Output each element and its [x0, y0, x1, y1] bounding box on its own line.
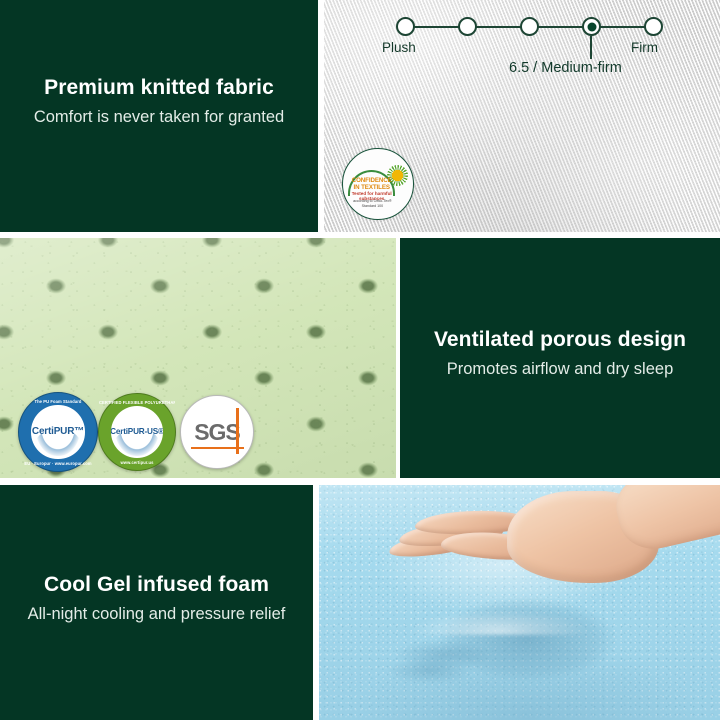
- ventilation-headline: Ventilated porous design: [400, 328, 720, 351]
- sgs-badge: SGS: [180, 395, 254, 469]
- fabric-subline: Comfort is never taken for granted: [0, 108, 318, 128]
- scale-dot-2[interactable]: [458, 17, 477, 36]
- scale-dot-1[interactable]: [396, 17, 415, 36]
- ventilation-subline: Promotes airflow and dry sleep: [400, 360, 720, 380]
- certipur-label: CertiPUR™: [32, 426, 84, 437]
- gel-headline: Cool Gel infused foam: [0, 573, 313, 596]
- sgs-badge-inner: SGS: [181, 396, 253, 468]
- certipur-badge-inner: CertiPUR™: [31, 405, 84, 458]
- certipur-us-arc-bottom: www.certipur.us: [99, 460, 175, 465]
- scale-dot-3[interactable]: [520, 17, 539, 36]
- certipur-badge: The PU Foam Standard EU · Europur · www.…: [18, 392, 98, 472]
- ventilated-foam-image: The PU Foam Standard EU · Europur · www.…: [0, 238, 396, 478]
- hand-image: [381, 485, 720, 610]
- fabric-text-panel: Premium knitted fabric Comfort is never …: [0, 0, 318, 232]
- sgs-horizontal-rule: [191, 447, 244, 449]
- certipur-arc-bottom: EU · Europur · www.europur.com: [19, 461, 97, 466]
- feature-row-gel: Cool Gel infused foam All-night cooling …: [0, 485, 720, 720]
- oeko-tex-line4: according to Oeko-Tex® Standard 100: [346, 199, 399, 207]
- gel-text-panel: Cool Gel infused foam All-night cooling …: [0, 485, 313, 720]
- sgs-label: SGS: [194, 419, 240, 446]
- oeko-tex-line1: CONFIDENCE IN TEXTILES: [349, 177, 395, 191]
- certipur-us-arc-top: CERTIFIED FLEXIBLE POLYURETHANE FOAM: [99, 400, 175, 405]
- feature-row-ventilation: The PU Foam Standard EU · Europur · www.…: [0, 238, 720, 478]
- certipur-us-badge-inner: CertiPUR-US®: [111, 406, 163, 458]
- ventilation-text-panel: Ventilated porous design Promotes airflo…: [400, 238, 720, 478]
- oeko-tex-line1-text: CONFIDENCE: [352, 177, 392, 184]
- scale-marker-stem: [590, 36, 592, 59]
- certipur-arc-top: The PU Foam Standard: [19, 399, 97, 404]
- product-feature-infographic: Premium knitted fabric Comfort is never …: [0, 0, 720, 720]
- certipur-us-label: CertiPUR-US®: [111, 427, 163, 436]
- firmness-scale: Plush Firm 6.5 / Medium-firm: [324, 0, 720, 90]
- scale-marker-label: 6.5 / Medium-firm: [509, 60, 622, 76]
- oeko-tex-badge: CONFIDENCE IN TEXTILES Tested for harmfu…: [342, 148, 414, 220]
- feature-row-fabric: Premium knitted fabric Comfort is never …: [0, 0, 720, 232]
- scale-label-firm: Firm: [631, 40, 658, 55]
- fabric-headline: Premium knitted fabric: [0, 76, 318, 99]
- scale-label-plush: Plush: [382, 40, 416, 55]
- gel-subline: All-night cooling and pressure relief: [0, 605, 313, 625]
- knit-fabric-image: Plush Firm 6.5 / Medium-firm CONFIDENCE …: [324, 0, 720, 232]
- scale-dot-5[interactable]: [644, 17, 663, 36]
- gel-foam-image: [319, 485, 720, 720]
- scale-dot-4-selected[interactable]: [582, 17, 601, 36]
- certipur-us-badge: CERTIFIED FLEXIBLE POLYURETHANE FOAM www…: [98, 393, 176, 471]
